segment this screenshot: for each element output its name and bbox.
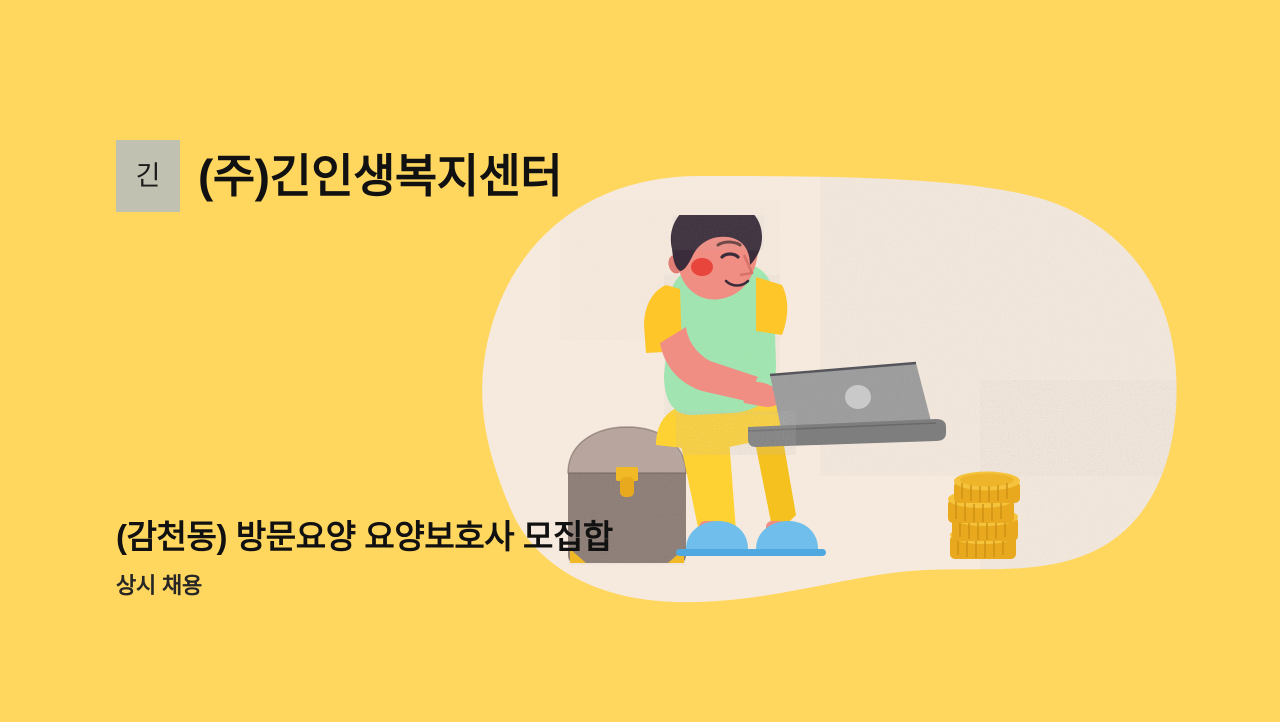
ankle-front <box>699 521 719 547</box>
arm <box>660 327 758 401</box>
shoe-front-icon <box>676 521 756 556</box>
hair <box>671 215 762 271</box>
pants-thigh <box>656 401 806 451</box>
job-posting-card: 긴 (주)긴인생복지센터 (감천동) 방문요양 요양보호사 모집합 상시 채용 <box>0 0 1280 722</box>
neck <box>698 247 738 281</box>
cheek-blush <box>691 258 713 276</box>
background-blob-layer <box>0 0 1280 722</box>
job-title[interactable]: (감천동) 방문요양 요양보호사 모집합 <box>116 518 613 557</box>
head <box>668 215 764 300</box>
company-logo-badge[interactable]: 긴 <box>116 140 180 212</box>
hand <box>740 381 781 407</box>
company-name: (주)긴인생복지센터 <box>198 152 562 200</box>
coin-stack-icon <box>948 472 1020 560</box>
thigh-speckle-accent <box>676 411 796 455</box>
illustration-man-with-laptop <box>560 215 1040 585</box>
sleeve-right <box>756 277 787 335</box>
shoe-back-icon <box>746 521 826 556</box>
sleeve-left <box>644 285 682 353</box>
ankle-back <box>766 521 786 547</box>
employment-type-label: 상시 채용 <box>116 573 613 599</box>
shirt <box>664 263 776 415</box>
job-info-block: (감천동) 방문요양 요양보호사 모집합 상시 채용 <box>116 518 613 599</box>
company-header: 긴 (주)긴인생복지센터 <box>116 140 562 212</box>
pants-front-leg <box>678 425 736 537</box>
pants-back-leg <box>728 411 796 537</box>
company-logo-initial: 긴 <box>136 163 161 190</box>
laptop-icon <box>748 361 946 447</box>
